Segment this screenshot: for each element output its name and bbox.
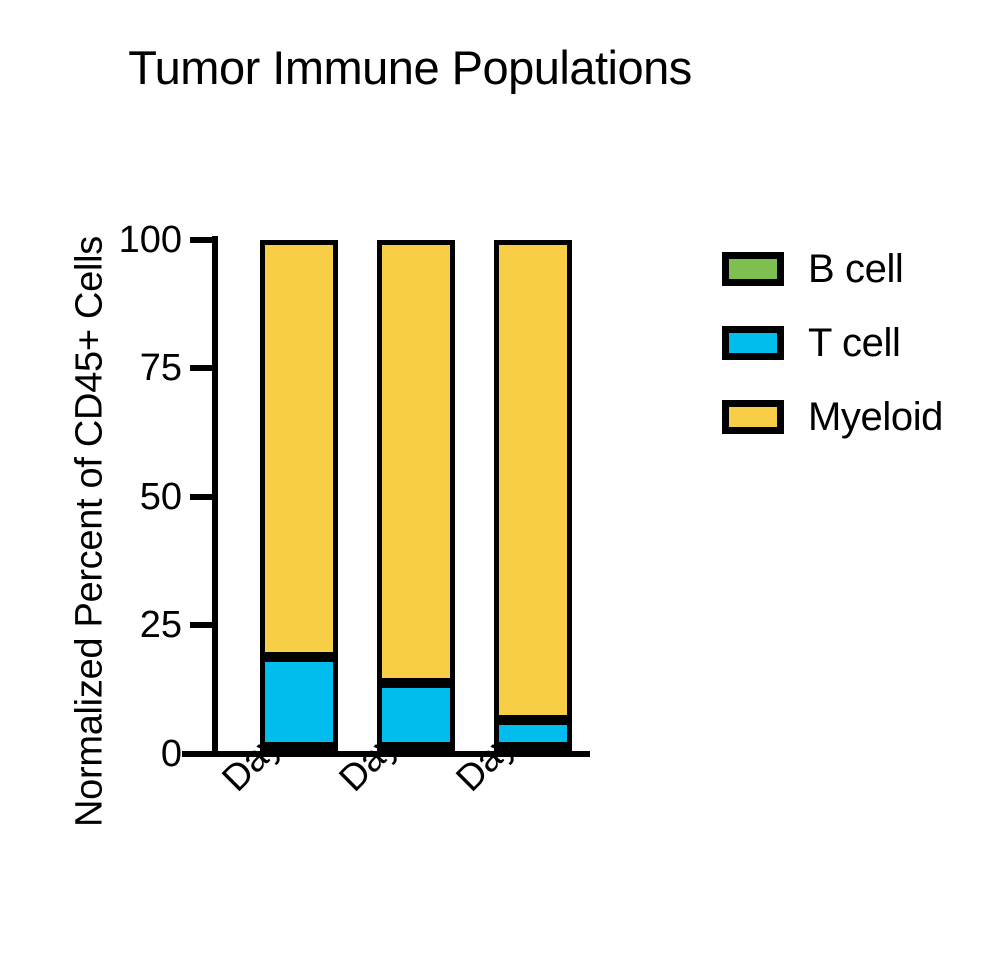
bar-segment-b-cell-day-14[interactable] [377, 743, 455, 753]
bar-segment-myeloid-day-14[interactable] [377, 240, 455, 683]
y-tick-mark-75 [190, 365, 214, 371]
y-tick-mark-50 [190, 494, 214, 500]
y-axis-title: Normalized Percent of CD45+ Cells [69, 182, 112, 882]
bar-segment-myeloid-day-22[interactable] [494, 240, 572, 720]
y-tick-mark-0 [190, 751, 214, 757]
legend-item-t-cell[interactable]: T cell [722, 306, 992, 380]
bar-segment-b-cell-day-22[interactable] [494, 743, 572, 753]
plot-area [212, 240, 590, 753]
legend: B cell T cell Myeloid [722, 232, 992, 454]
y-tick-mark-25 [190, 622, 214, 628]
legend-item-myeloid[interactable]: Myeloid [722, 380, 992, 454]
legend-swatch-t-cell [722, 326, 784, 360]
legend-swatch-myeloid [722, 400, 784, 434]
y-tick-label-75-text: 75 [110, 349, 182, 387]
y-tick-label-100-text: 100 [110, 221, 182, 259]
bar-segment-myeloid-day-8[interactable] [260, 240, 338, 657]
y-tick-label-25-text: 25 [110, 606, 182, 644]
bar-segment-t-cell-day-8[interactable] [260, 657, 338, 747]
page-title: Tumor Immune Populations [0, 40, 820, 95]
legend-item-b-cell[interactable]: B cell [722, 232, 992, 306]
legend-label-myeloid: Myeloid [808, 397, 943, 437]
y-tick-label-0-text: 0 [110, 735, 182, 773]
y-tick-label-0: 0 [104, 735, 182, 773]
y-tick-label-50: 50 [104, 478, 182, 516]
y-tick-label-100: 100 [104, 221, 182, 259]
bar-segment-b-cell-day-8[interactable] [260, 743, 338, 753]
y-tick-label-75: 75 [104, 349, 182, 387]
y-tick-mark-100 [190, 237, 214, 243]
legend-label-b-cell: B cell [808, 249, 903, 289]
legend-swatch-b-cell [722, 252, 784, 286]
legend-label-t-cell: T cell [808, 323, 900, 363]
y-tick-label-50-text: 50 [110, 478, 182, 516]
y-tick-label-25: 25 [104, 606, 182, 644]
bar-segment-t-cell-day-14[interactable] [377, 683, 455, 747]
chart-figure: Tumor Immune Populations Normalized Perc… [0, 0, 1000, 956]
